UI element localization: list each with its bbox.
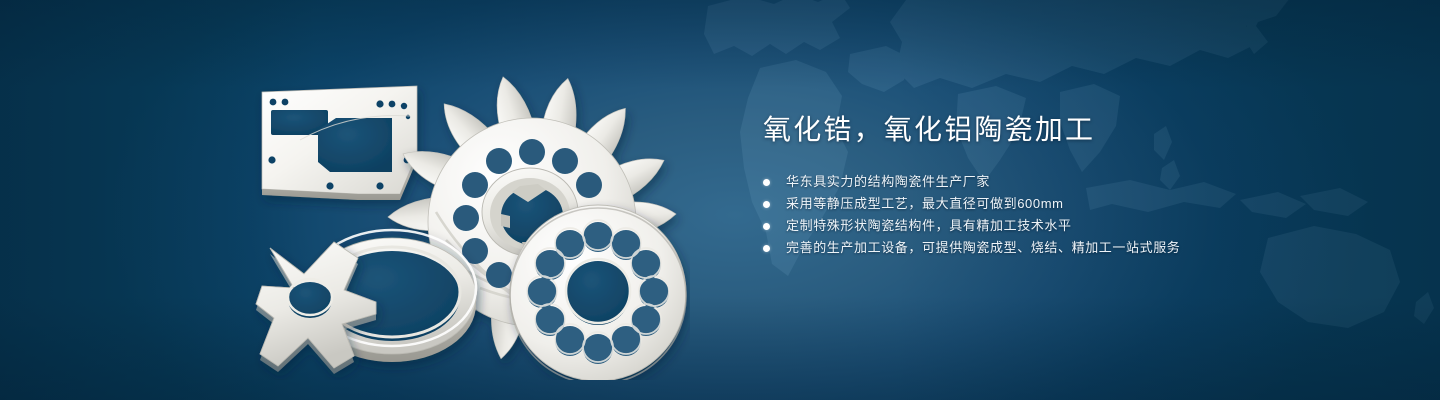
bullet-dot-icon [763,223,770,230]
ceramic-machined-plate [262,86,417,200]
bullet-dot-icon [763,245,770,252]
feature-text: 完善的生产加工设备，可提供陶瓷成型、烧结、精加工一站式服务 [786,240,1180,255]
banner-headline: 氧化锆，氧化铝陶瓷加工 [763,112,1383,147]
list-item: 定制特殊形状陶瓷结构件，具有精加工技术水平 [763,215,1383,237]
bullet-dot-icon [763,179,770,186]
feature-text: 华东具实力的结构陶瓷件生产厂家 [786,174,990,189]
feature-text: 定制特殊形状陶瓷结构件，具有精加工技术水平 [786,218,1072,233]
feature-text: 采用等静压成型工艺，最大直径可做到600mm [786,196,1064,211]
ceramic-perforated-disc [510,205,686,380]
list-item: 采用等静压成型工艺，最大直径可做到600mm [763,193,1383,215]
banner-copy: 氧化锆，氧化铝陶瓷加工 华东具实力的结构陶瓷件生产厂家 采用等静压成型工艺，最大… [763,112,1383,259]
bullet-dot-icon [763,201,770,208]
list-item: 完善的生产加工设备，可提供陶瓷成型、烧结、精加工一站式服务 [763,237,1383,259]
product-photo-cluster [240,40,690,380]
list-item: 华东具实力的结构陶瓷件生产厂家 [763,171,1383,193]
feature-list: 华东具实力的结构陶瓷件生产厂家 采用等静压成型工艺，最大直径可做到600mm 定… [763,171,1383,259]
hero-banner: 氧化锆，氧化铝陶瓷加工 华东具实力的结构陶瓷件生产厂家 采用等静压成型工艺，最大… [0,0,1440,400]
